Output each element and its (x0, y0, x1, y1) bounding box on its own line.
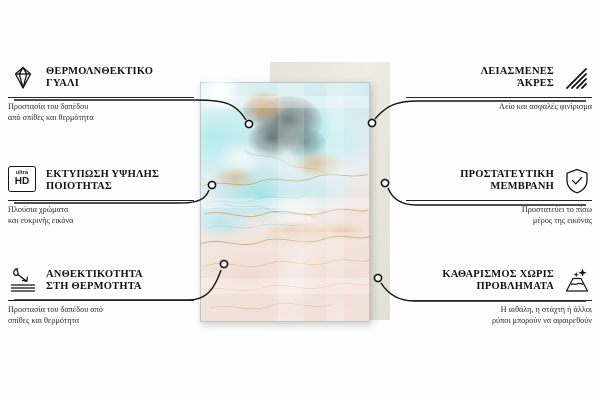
feature-header: ΛΕΙΑΣΜΕΝΕΣ ΆΚΡΕΣ (406, 62, 592, 94)
feature-heat-resistance: ΑΝΘΕΚΤΙΚΟΤΗΤΑ ΣΤΗ ΘΕΡΜΟΤΗΤΑ Προστασία το… (8, 265, 194, 326)
feature-header: ΚΑΘΑΡΙΣΜΟΣ ΧΩΡΙΣ ΠΡΟΒΛΗΜΑΤΑ (406, 265, 592, 297)
anchor-mid-right-dot (381, 179, 388, 186)
feature-protective-membrane: ΠΡΟΣΤΑΤΕΥΤΙΚΗ ΜΕΜΒΡΑΝΗ Προστατεύει το πί… (406, 165, 592, 226)
feature-polished-edges: ΛΕΙΑΣΜΕΝΕΣ ΆΚΡΕΣ Λείο και ασφαλές φινίρι… (406, 62, 592, 113)
hd-label: HD (15, 177, 29, 187)
heat-resistance-icon (8, 266, 38, 296)
divider (406, 300, 592, 301)
divider (406, 97, 592, 98)
easy-clean-sparkle-icon (562, 266, 592, 296)
feature-description: Προστατεύει το πίσω μέρος της εικόνας (406, 205, 592, 226)
feature-title: ΑΝΘΕΚΤΙΚΟΤΗΤΑ ΣΤΗ ΘΕΡΜΟΤΗΤΑ (46, 269, 143, 294)
feature-title: ΚΑΘΑΡΙΣΜΟΣ ΧΩΡΙΣ ΠΡΟΒΛΗΜΑΤΑ (442, 269, 554, 294)
feature-header: ΑΝΘΕΚΤΙΚΟΤΗΤΑ ΣΤΗ ΘΕΡΜΟΤΗΤΑ (8, 265, 194, 297)
feature-description: Προστασία του δαπέδου από σπίθες και θερ… (8, 305, 194, 326)
feature-heat-resistant-glass: ΘΕΡΜΟΛΝΘΕΚΤΙΚΟ ΓΥΑΛΙ Προστασία του δαπέδ… (8, 62, 194, 123)
feature-title: ΘΕΡΜΟΛΝΘΕΚΤΙΚΟ ΓΥΑΛΙ (46, 66, 153, 91)
feature-title: ΛΕΙΑΣΜΕΝΕΣ ΆΚΡΕΣ (481, 66, 554, 91)
divider (8, 300, 194, 301)
divider (8, 97, 194, 98)
feature-header: ΘΕΡΜΟΛΝΘΕΚΤΙΚΟ ΓΥΑΛΙ (8, 62, 194, 94)
feature-title: ΠΡΟΣΤΑΤΕΥΤΙΚΗ ΜΕΜΒΡΑΝΗ (460, 169, 554, 194)
feature-header: ultra HD ΕΚΤΥΠΩΣΗ ΥΨΗΛΗΣ ΠΟΙΟΤΗΤΑΣ (8, 165, 194, 197)
polished-edges-icon (562, 63, 592, 93)
divider (406, 200, 592, 201)
feature-description: Προστασία του δαπέδου από σπίθες και θερ… (8, 102, 194, 123)
divider (8, 200, 194, 201)
ultra-hd-badge: ultra HD (8, 166, 36, 192)
feature-description: Λείο και ασφαλές φινίρισμα (406, 102, 592, 113)
feature-header: ΠΡΟΣΤΑΤΕΥΤΙΚΗ ΜΕΜΒΡΑΝΗ (406, 165, 592, 197)
anchor-mid-left-dot (208, 181, 215, 188)
ultra-hd-icon: ultra HD (8, 166, 38, 196)
anchor-top-left-dot (245, 120, 252, 127)
infographic-canvas: ΘΕΡΜΟΛΝΘΕΚΤΙΚΟ ΓΥΑΛΙ Προστασία του δαπέδ… (0, 0, 600, 400)
feature-title: ΕΚΤΥΠΩΣΗ ΥΨΗΛΗΣ ΠΟΙΟΤΗΤΑΣ (46, 169, 159, 194)
feature-high-quality-print: ultra HD ΕΚΤΥΠΩΣΗ ΥΨΗΛΗΣ ΠΟΙΟΤΗΤΑΣ Πλούσ… (8, 165, 194, 226)
anchor-bottom-left-dot (220, 260, 227, 267)
anchor-top-right-dot (368, 119, 375, 126)
diamond-icon (8, 63, 38, 93)
feature-description: Πλούσια χρώματα και ευκρινής εικόνα (8, 205, 194, 226)
feature-description: Η αιθάλη, η στάχτη ή άλλοι ρύποι μπορούν… (406, 305, 592, 326)
shield-check-icon (562, 166, 592, 196)
feature-easy-cleaning: ΚΑΘΑΡΙΣΜΟΣ ΧΩΡΙΣ ΠΡΟΒΛΗΜΑΤΑ Η αιθάλη, η … (406, 265, 592, 326)
anchor-bottom-right-dot (374, 274, 381, 281)
